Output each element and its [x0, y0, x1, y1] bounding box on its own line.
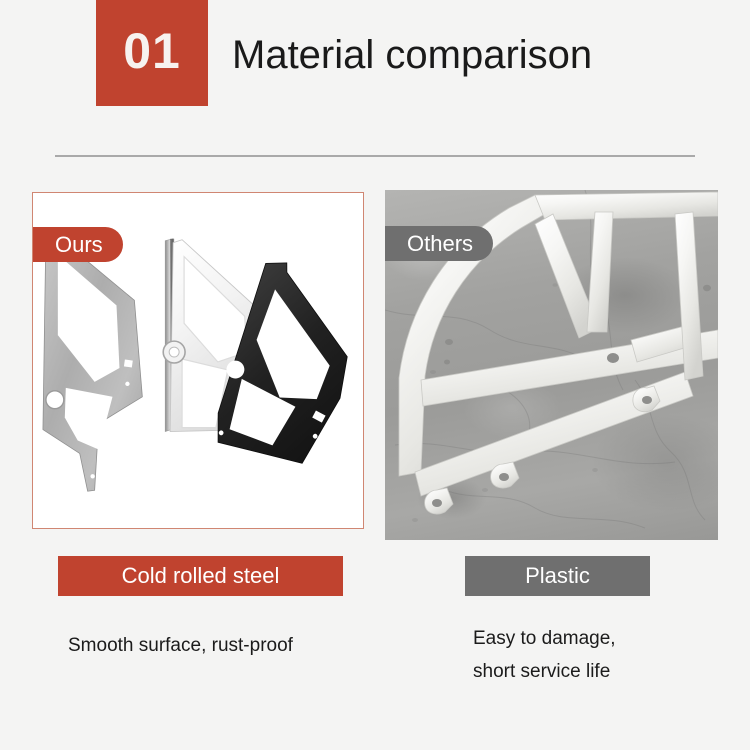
ours-tag-label: Ours: [55, 232, 103, 258]
ours-description: Smooth surface, rust-proof: [68, 629, 293, 662]
plastic-label: Plastic: [465, 556, 650, 596]
ours-photo: Ours: [32, 192, 364, 529]
bracket-steel-gray: [43, 231, 142, 491]
ours-tag: Ours: [33, 227, 123, 262]
others-description-line-1: Easy to damage,: [473, 622, 616, 655]
plastic-text: Plastic: [525, 563, 590, 589]
others-description: Easy to damage, short service life: [473, 622, 616, 688]
others-tag: Others: [385, 226, 493, 261]
others-description-line-2: short service life: [473, 655, 616, 688]
others-photo: Others: [385, 190, 718, 540]
cold-rolled-steel-label: Cold rolled steel: [58, 556, 343, 596]
cold-rolled-steel-text: Cold rolled steel: [122, 563, 280, 589]
others-tag-label: Others: [407, 231, 473, 257]
page-root: 01 Material comparison: [0, 0, 750, 750]
